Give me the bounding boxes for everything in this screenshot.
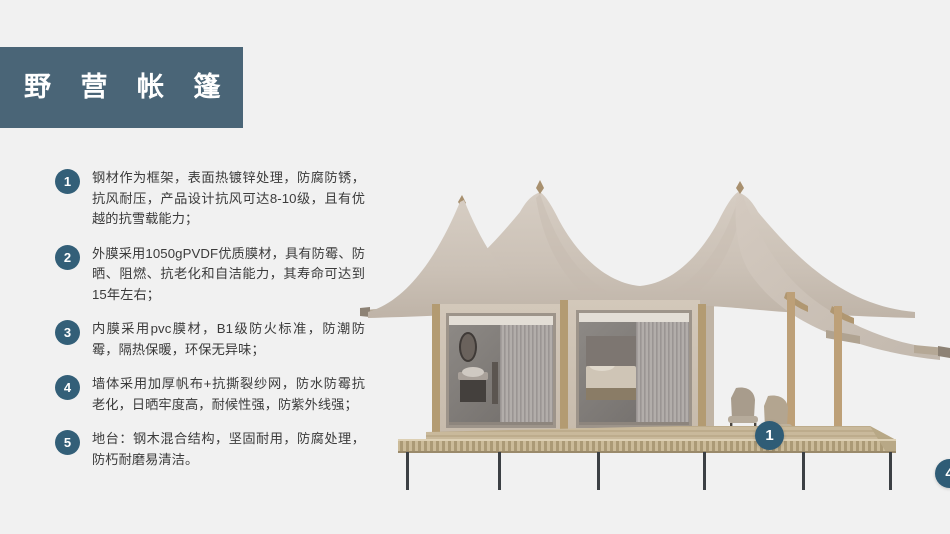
feature-text-2: 外膜采用1050gPVDF优质膜材，具有防霉、防晒、阻燃、抗老化和自洁能力，其寿…	[92, 244, 365, 306]
feature-badge-5: 5	[55, 430, 80, 455]
deck-edge-highlight	[398, 439, 896, 441]
image-callout-1[interactable]: 1	[755, 421, 784, 450]
support-leg-5	[802, 452, 805, 490]
peak-cap-right	[736, 181, 744, 194]
window-right-sill	[579, 422, 689, 425]
support-leg-2	[498, 452, 501, 490]
vanity-cabinet	[460, 380, 486, 402]
title-banner: 野 营 帐 篷	[0, 47, 243, 128]
basin	[462, 367, 484, 377]
window-left-valance	[449, 316, 553, 325]
post-corner-left	[432, 304, 440, 442]
support-leg-1	[406, 452, 409, 490]
feature-badge-2: 2	[55, 245, 80, 270]
lounge-chair-left	[731, 388, 755, 421]
mirror-glass	[461, 334, 475, 360]
feature-item: 4 墙体采用加厚帆布+抗撕裂纱网，防水防霉抗老化，日晒牢度高，耐候性强，防紫外线…	[55, 374, 365, 415]
support-legs	[406, 452, 892, 490]
bed-base	[586, 388, 636, 400]
deck-edge-shadow	[398, 451, 896, 453]
support-leg-6	[889, 452, 892, 490]
feature-text-1: 钢材作为框架，表面热镀锌处理，防腐防锈，抗风耐压，产品设计抗风可达8-10级，且…	[92, 168, 365, 230]
support-leg-4	[703, 452, 706, 490]
peak-cap-center	[536, 180, 544, 194]
feature-list: 1 钢材作为框架，表面热镀锌处理，防腐防锈，抗风耐压，产品设计抗风可达8-10级…	[55, 168, 365, 484]
feature-item: 1 钢材作为框架，表面热镀锌处理，防腐防锈，抗风耐压，产品设计抗风可达8-10级…	[55, 168, 365, 230]
feature-text-5: 地台：钢木混合结构，坚固耐用，防腐处理，防朽耐磨易清洁。	[92, 429, 365, 470]
terrace-post-right	[834, 306, 842, 442]
chair-left-seat	[728, 416, 758, 423]
feature-badge-3: 3	[55, 320, 80, 345]
curtain-right-window	[636, 322, 689, 425]
feature-text-3: 内膜采用pvc膜材，B1级防火标准，防潮防霉，隔热保暖，环保无异味；	[92, 319, 365, 360]
tent-illustration	[340, 140, 950, 490]
feature-text-4: 墙体采用加厚帆布+抗撕裂纱网，防水防霉抗老化，日晒牢度高，耐候性强，防紫外线强；	[92, 374, 365, 415]
feature-item: 5 地台：钢木混合结构，坚固耐用，防腐处理，防朽耐磨易清洁。	[55, 429, 365, 470]
feature-badge-1: 1	[55, 169, 80, 194]
feature-badge-4: 4	[55, 375, 80, 400]
right-strap-end	[938, 346, 950, 358]
feature-item: 2 外膜采用1050gPVDF优质膜材，具有防霉、防晒、阻燃、抗老化和自洁能力，…	[55, 244, 365, 306]
feature-item: 3 内膜采用pvc膜材，B1级防火标准，防潮防霉，隔热保暖，环保无异味；	[55, 319, 365, 360]
window-right	[576, 310, 692, 428]
deck-edge	[398, 440, 896, 452]
interior-column	[492, 362, 498, 404]
window-left-sill	[449, 422, 553, 425]
post-corner-middle	[560, 300, 568, 442]
deck-platform	[398, 426, 896, 453]
headboard	[586, 336, 638, 366]
product-image: 喜地营居 XI DI YING JU 1 2 3 4 5	[340, 140, 950, 490]
window-right-valance	[579, 313, 689, 322]
curtain-left-window	[500, 325, 553, 425]
window-left	[446, 313, 556, 428]
terrace-post-left	[787, 292, 795, 440]
page-title: 野 营 帐 篷	[24, 74, 232, 101]
support-leg-3	[597, 452, 600, 490]
post-corner-right	[698, 304, 706, 442]
